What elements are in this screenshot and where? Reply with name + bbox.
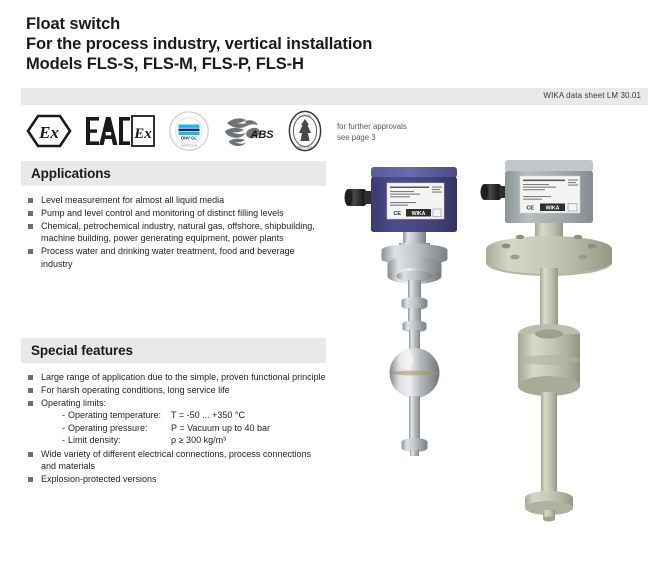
list-item: Explosion-protected versions xyxy=(26,473,326,485)
eac-ex-logo: Ex xyxy=(85,114,155,153)
operating-limit-row: - Operating temperature: T = -50 ... +35… xyxy=(62,409,326,422)
title-line-3: Models FLS-S, FLS-M, FLS-P, FLS-H xyxy=(26,54,586,74)
operating-limit-row: - Operating pressure: P = Vacuum up to 4… xyxy=(62,422,326,435)
dash-marker: - xyxy=(62,434,65,447)
list-item: Pump and level control and monitoring of… xyxy=(26,207,326,219)
special-features-section-band: Special features xyxy=(21,338,326,363)
further-approvals-line-2: see page 3 xyxy=(337,133,407,144)
applications-heading: Applications xyxy=(31,166,111,181)
cable-gland-right xyxy=(481,184,508,200)
special-features-list: Large range of application due to the si… xyxy=(26,371,326,486)
list-item: Chemical, petrochemical industry, natura… xyxy=(26,220,326,245)
svg-text:DNV·GL: DNV·GL xyxy=(181,135,197,140)
special-features-heading: Special features xyxy=(31,343,133,358)
svg-text:WIKA: WIKA xyxy=(412,211,426,217)
approvals-row: Ex Ex DNV·G xyxy=(26,110,322,156)
bullet-square-icon xyxy=(28,211,33,216)
svg-text:WIKA: WIKA xyxy=(546,206,560,212)
abs-logo: ABS xyxy=(223,111,275,156)
title-line-2: For the process industry, vertical insta… xyxy=(26,34,586,54)
svg-text:ABS: ABS xyxy=(249,129,274,141)
svg-text:Ex: Ex xyxy=(38,123,59,142)
list-item: For harsh operating conditions, long ser… xyxy=(26,384,326,396)
list-item: Process water and drinking water treatme… xyxy=(26,245,326,270)
cable-gland-left xyxy=(345,189,374,206)
hex-nut-left xyxy=(403,232,426,243)
bullet-square-icon xyxy=(28,477,33,482)
bullet-square-icon xyxy=(28,198,33,203)
dash-marker: - xyxy=(62,422,65,435)
list-item: Large range of application due to the si… xyxy=(26,371,326,383)
process-flange-left xyxy=(382,244,448,284)
applications-section-band: Applications xyxy=(21,161,326,186)
dash-marker: - xyxy=(62,409,65,422)
title-line-1: Float switch xyxy=(26,14,586,34)
list-item: Wide variety of different electrical con… xyxy=(26,448,326,473)
further-approvals-line-1: for further approvals xyxy=(337,122,407,133)
list-item: Level measurement for almost all liquid … xyxy=(26,194,326,206)
lloyds-register-logo: LLOYD'S REGISTER xyxy=(288,110,322,157)
dnv-gl-logo: DNV·GL DNVGL.COM xyxy=(168,110,210,157)
bullet-square-icon xyxy=(28,452,33,457)
nameplate-label-right: CE WIKA xyxy=(520,176,580,213)
svg-text:LLOYD'S: LLOYD'S xyxy=(299,113,311,117)
cylindrical-float-right xyxy=(518,324,580,396)
further-approvals-note: for further approvals see page 3 xyxy=(337,122,407,143)
datasheet-reference-text: WIKA data sheet LM 30.01 xyxy=(543,91,641,100)
nameplate-label-left: CE WIKA xyxy=(387,183,444,219)
svg-text:CE: CE xyxy=(394,211,402,217)
bullet-square-icon xyxy=(28,224,33,229)
datasheet-reference-bar: WIKA data sheet LM 30.01 xyxy=(21,88,648,105)
bullet-square-icon xyxy=(28,388,33,393)
enclosure-lid-right xyxy=(505,160,593,172)
bullet-square-icon xyxy=(28,401,33,406)
product-images: CE WIKA xyxy=(340,158,665,568)
svg-text:DNVGL.COM: DNVGL.COM xyxy=(181,143,198,147)
svg-text:CE: CE xyxy=(527,206,535,212)
bottom-stop-right xyxy=(525,491,573,521)
stem-right xyxy=(540,268,558,330)
svg-text:Ex: Ex xyxy=(133,126,152,142)
list-item-operating-limits: Operating limits: - Operating temperatur… xyxy=(26,397,326,447)
enclosure-lid-left xyxy=(371,167,457,178)
operating-limits-table: - Operating temperature: T = -50 ... +35… xyxy=(41,409,326,447)
atex-ex-logo: Ex xyxy=(26,114,72,153)
bullet-square-icon xyxy=(28,375,33,380)
bullet-square-icon xyxy=(28,249,33,254)
operating-limit-row: - Limit density: ρ ≥ 300 kg/m³ xyxy=(62,434,326,447)
page-title: Float switch For the process industry, v… xyxy=(26,14,586,74)
svg-text:REGISTER: REGISTER xyxy=(298,145,312,149)
product-right-float-switch: CE WIKA xyxy=(481,160,613,521)
product-left-float-switch: CE WIKA xyxy=(345,167,458,456)
applications-list: Level measurement for almost all liquid … xyxy=(26,194,326,270)
